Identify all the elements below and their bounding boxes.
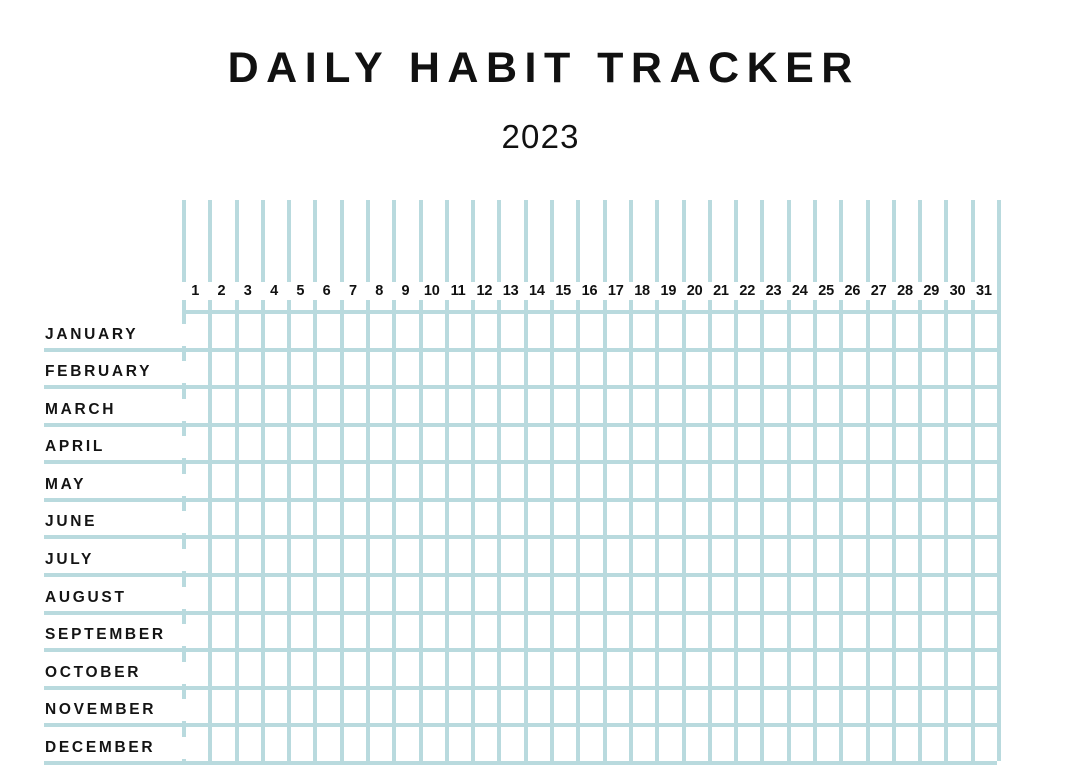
habit-cell[interactable]: [633, 727, 655, 761]
habit-cell[interactable]: [265, 352, 287, 386]
habit-cell[interactable]: [764, 690, 786, 724]
habit-cell[interactable]: [265, 502, 287, 536]
habit-cell[interactable]: [738, 314, 760, 348]
habit-cell[interactable]: [528, 464, 550, 498]
habit-cell[interactable]: [817, 652, 839, 686]
habit-cell[interactable]: [344, 389, 366, 423]
habit-cell[interactable]: [239, 389, 261, 423]
habit-cell[interactable]: [975, 389, 997, 423]
habit-cell[interactable]: [633, 652, 655, 686]
month-label-july[interactable]: JULY: [44, 549, 194, 571]
habit-cell[interactable]: [344, 577, 366, 611]
habit-cell[interactable]: [975, 652, 997, 686]
month-label-january[interactable]: JANUARY: [44, 324, 194, 346]
habit-cell[interactable]: [501, 690, 523, 724]
month-label-june[interactable]: JUNE: [44, 511, 194, 533]
habit-cell[interactable]: [239, 539, 261, 573]
habit-cell[interactable]: [843, 727, 865, 761]
habit-cell[interactable]: [712, 577, 734, 611]
habit-cell[interactable]: [396, 539, 418, 573]
habit-cell[interactable]: [475, 690, 497, 724]
habit-cell[interactable]: [659, 652, 681, 686]
habit-cell[interactable]: [843, 352, 865, 386]
habit-cell[interactable]: [870, 615, 892, 649]
habit-cell[interactable]: [712, 652, 734, 686]
habit-cell[interactable]: [212, 539, 234, 573]
habit-cell[interactable]: [239, 727, 261, 761]
habit-cell[interactable]: [896, 427, 918, 461]
habit-cell[interactable]: [607, 652, 629, 686]
habit-cell[interactable]: [738, 464, 760, 498]
habit-cell[interactable]: [528, 652, 550, 686]
habit-cell[interactable]: [554, 314, 576, 348]
habit-cell[interactable]: [712, 352, 734, 386]
day-header-30[interactable]: 30: [944, 282, 970, 300]
month-label-december[interactable]: DECEMBER: [44, 737, 194, 759]
habit-cell[interactable]: [686, 427, 708, 461]
habit-cell[interactable]: [738, 502, 760, 536]
habit-cell[interactable]: [291, 464, 313, 498]
habit-cell[interactable]: [686, 727, 708, 761]
habit-cell[interactable]: [607, 314, 629, 348]
habit-cell[interactable]: [764, 615, 786, 649]
habit-cell[interactable]: [870, 464, 892, 498]
habit-cell[interactable]: [554, 539, 576, 573]
habit-cell[interactable]: [370, 502, 392, 536]
habit-cell[interactable]: [370, 615, 392, 649]
habit-cell[interactable]: [291, 539, 313, 573]
habit-cell[interactable]: [239, 690, 261, 724]
habit-cell[interactable]: [449, 502, 471, 536]
habit-cell[interactable]: [948, 502, 970, 536]
habit-cell[interactable]: [712, 314, 734, 348]
habit-cell[interactable]: [712, 539, 734, 573]
habit-cell[interactable]: [764, 539, 786, 573]
habit-cell[interactable]: [580, 615, 602, 649]
habit-cell[interactable]: [607, 427, 629, 461]
habit-cell[interactable]: [948, 690, 970, 724]
habit-cell[interactable]: [896, 464, 918, 498]
habit-cell[interactable]: [948, 314, 970, 348]
habit-cell[interactable]: [948, 464, 970, 498]
habit-cell[interactable]: [291, 577, 313, 611]
habit-cell[interactable]: [317, 615, 339, 649]
habit-cell[interactable]: [922, 615, 944, 649]
habit-cell[interactable]: [633, 502, 655, 536]
habit-cell[interactable]: [554, 389, 576, 423]
habit-cell[interactable]: [633, 577, 655, 611]
habit-cell[interactable]: [528, 727, 550, 761]
day-header-15[interactable]: 15: [550, 282, 576, 300]
habit-cell[interactable]: [423, 727, 445, 761]
habit-cell[interactable]: [712, 389, 734, 423]
habit-cell[interactable]: [212, 389, 234, 423]
habit-cell[interactable]: [843, 690, 865, 724]
habit-cell[interactable]: [528, 539, 550, 573]
habit-cell[interactable]: [396, 427, 418, 461]
day-header-9[interactable]: 9: [392, 282, 418, 300]
habit-cell[interactable]: [607, 464, 629, 498]
habit-cell[interactable]: [686, 352, 708, 386]
habit-cell[interactable]: [659, 427, 681, 461]
habit-cell[interactable]: [791, 577, 813, 611]
habit-cell[interactable]: [396, 577, 418, 611]
habit-cell[interactable]: [344, 464, 366, 498]
month-label-february[interactable]: FEBRUARY: [44, 361, 194, 383]
habit-cell[interactable]: [554, 615, 576, 649]
habit-cell[interactable]: [843, 389, 865, 423]
habit-cell[interactable]: [396, 652, 418, 686]
habit-cell[interactable]: [344, 427, 366, 461]
habit-cell[interactable]: [659, 314, 681, 348]
habit-cell[interactable]: [317, 502, 339, 536]
habit-cell[interactable]: [528, 615, 550, 649]
habit-cell[interactable]: [449, 464, 471, 498]
habit-cell[interactable]: [948, 389, 970, 423]
habit-cell[interactable]: [817, 464, 839, 498]
day-header-12[interactable]: 12: [471, 282, 497, 300]
habit-cell[interactable]: [896, 352, 918, 386]
habit-cell[interactable]: [475, 727, 497, 761]
habit-cell[interactable]: [291, 352, 313, 386]
habit-cell[interactable]: [212, 577, 234, 611]
habit-cell[interactable]: [554, 502, 576, 536]
habit-cell[interactable]: [791, 389, 813, 423]
habit-cell[interactable]: [975, 314, 997, 348]
habit-cell[interactable]: [817, 427, 839, 461]
habit-cell[interactable]: [475, 577, 497, 611]
habit-cell[interactable]: [764, 727, 786, 761]
habit-cell[interactable]: [554, 727, 576, 761]
day-header-29[interactable]: 29: [918, 282, 944, 300]
habit-cell[interactable]: [501, 615, 523, 649]
month-label-march[interactable]: MARCH: [44, 399, 194, 421]
habit-cell[interactable]: [870, 539, 892, 573]
habit-cell[interactable]: [265, 389, 287, 423]
habit-cell[interactable]: [291, 690, 313, 724]
habit-cell[interactable]: [501, 389, 523, 423]
habit-cell[interactable]: [948, 539, 970, 573]
habit-cell[interactable]: [870, 427, 892, 461]
habit-cell[interactable]: [423, 389, 445, 423]
habit-cell[interactable]: [791, 727, 813, 761]
habit-cell[interactable]: [843, 652, 865, 686]
habit-cell[interactable]: [922, 652, 944, 686]
habit-cell[interactable]: [817, 539, 839, 573]
habit-cell[interactable]: [975, 615, 997, 649]
habit-cell[interactable]: [843, 427, 865, 461]
habit-cell[interactable]: [686, 652, 708, 686]
habit-cell[interactable]: [291, 389, 313, 423]
day-header-18[interactable]: 18: [629, 282, 655, 300]
habit-cell[interactable]: [239, 464, 261, 498]
habit-cell[interactable]: [396, 464, 418, 498]
habit-cell[interactable]: [291, 615, 313, 649]
habit-cell[interactable]: [922, 539, 944, 573]
habit-cell[interactable]: [317, 652, 339, 686]
habit-cell[interactable]: [922, 352, 944, 386]
habit-cell[interactable]: [554, 464, 576, 498]
habit-cell[interactable]: [948, 652, 970, 686]
habit-cell[interactable]: [396, 502, 418, 536]
habit-cell[interactable]: [580, 539, 602, 573]
day-header-24[interactable]: 24: [787, 282, 813, 300]
day-header-11[interactable]: 11: [445, 282, 471, 300]
habit-cell[interactable]: [528, 427, 550, 461]
month-label-november[interactable]: NOVEMBER: [44, 699, 194, 721]
habit-cell[interactable]: [607, 615, 629, 649]
day-header-14[interactable]: 14: [524, 282, 550, 300]
month-label-september[interactable]: SEPTEMBER: [44, 624, 194, 646]
habit-cell[interactable]: [791, 652, 813, 686]
habit-cell[interactable]: [948, 427, 970, 461]
habit-cell[interactable]: [501, 577, 523, 611]
habit-cell[interactable]: [344, 502, 366, 536]
habit-cell[interactable]: [580, 427, 602, 461]
habit-cell[interactable]: [317, 690, 339, 724]
habit-cell[interactable]: [528, 352, 550, 386]
habit-cell[interactable]: [423, 652, 445, 686]
habit-cell[interactable]: [738, 652, 760, 686]
habit-cell[interactable]: [423, 615, 445, 649]
habit-cell[interactable]: [843, 464, 865, 498]
habit-cell[interactable]: [423, 539, 445, 573]
habit-cell[interactable]: [239, 502, 261, 536]
habit-cell[interactable]: [922, 577, 944, 611]
habit-cell[interactable]: [948, 727, 970, 761]
habit-cell[interactable]: [843, 314, 865, 348]
habit-cell[interactable]: [501, 502, 523, 536]
habit-cell[interactable]: [212, 352, 234, 386]
habit-cell[interactable]: [659, 615, 681, 649]
month-label-august[interactable]: AUGUST: [44, 587, 194, 609]
habit-cell[interactable]: [764, 464, 786, 498]
habit-cell[interactable]: [764, 314, 786, 348]
habit-cell[interactable]: [975, 539, 997, 573]
habit-cell[interactable]: [686, 615, 708, 649]
habit-cell[interactable]: [633, 690, 655, 724]
day-header-17[interactable]: 17: [603, 282, 629, 300]
habit-cell[interactable]: [528, 690, 550, 724]
habit-cell[interactable]: [922, 502, 944, 536]
habit-cell[interactable]: [212, 615, 234, 649]
habit-cell[interactable]: [659, 464, 681, 498]
habit-cell[interactable]: [659, 727, 681, 761]
habit-cell[interactable]: [607, 727, 629, 761]
habit-cell[interactable]: [843, 577, 865, 611]
habit-cell[interactable]: [712, 690, 734, 724]
habit-cell[interactable]: [870, 727, 892, 761]
habit-cell[interactable]: [712, 427, 734, 461]
habit-cell[interactable]: [423, 352, 445, 386]
habit-cell[interactable]: [265, 690, 287, 724]
habit-cell[interactable]: [686, 502, 708, 536]
habit-cell[interactable]: [212, 652, 234, 686]
habit-cell[interactable]: [817, 389, 839, 423]
habit-cell[interactable]: [738, 539, 760, 573]
habit-cell[interactable]: [370, 727, 392, 761]
habit-cell[interactable]: [239, 615, 261, 649]
habit-cell[interactable]: [528, 577, 550, 611]
habit-cell[interactable]: [607, 577, 629, 611]
habit-cell[interactable]: [475, 352, 497, 386]
day-header-2[interactable]: 2: [208, 282, 234, 300]
habit-cell[interactable]: [423, 502, 445, 536]
habit-cell[interactable]: [712, 502, 734, 536]
habit-cell[interactable]: [764, 389, 786, 423]
habit-cell[interactable]: [212, 690, 234, 724]
habit-cell[interactable]: [239, 427, 261, 461]
habit-cell[interactable]: [633, 464, 655, 498]
habit-cell[interactable]: [396, 727, 418, 761]
habit-cell[interactable]: [896, 727, 918, 761]
habit-cell[interactable]: [449, 352, 471, 386]
day-header-31[interactable]: 31: [971, 282, 997, 300]
day-header-8[interactable]: 8: [366, 282, 392, 300]
habit-cell[interactable]: [633, 427, 655, 461]
habit-cell[interactable]: [686, 577, 708, 611]
habit-cell[interactable]: [975, 464, 997, 498]
habit-cell[interactable]: [475, 652, 497, 686]
habit-cell[interactable]: [607, 690, 629, 724]
habit-cell[interactable]: [896, 690, 918, 724]
day-header-16[interactable]: 16: [576, 282, 602, 300]
habit-cell[interactable]: [370, 577, 392, 611]
habit-cell[interactable]: [449, 389, 471, 423]
habit-cell[interactable]: [344, 314, 366, 348]
habit-cell[interactable]: [764, 502, 786, 536]
month-label-april[interactable]: APRIL: [44, 436, 194, 458]
habit-cell[interactable]: [370, 427, 392, 461]
habit-cell[interactable]: [738, 427, 760, 461]
habit-cell[interactable]: [475, 615, 497, 649]
habit-cell[interactable]: [239, 652, 261, 686]
habit-cell[interactable]: [317, 464, 339, 498]
habit-cell[interactable]: [501, 539, 523, 573]
habit-cell[interactable]: [265, 539, 287, 573]
habit-cell[interactable]: [975, 727, 997, 761]
habit-cell[interactable]: [633, 389, 655, 423]
habit-cell[interactable]: [817, 352, 839, 386]
habit-cell[interactable]: [922, 727, 944, 761]
day-header-22[interactable]: 22: [734, 282, 760, 300]
habit-cell[interactable]: [686, 314, 708, 348]
habit-cell[interactable]: [449, 314, 471, 348]
habit-cell[interactable]: [764, 577, 786, 611]
habit-cell[interactable]: [922, 389, 944, 423]
habit-cell[interactable]: [449, 427, 471, 461]
habit-cell[interactable]: [817, 727, 839, 761]
habit-cell[interactable]: [554, 690, 576, 724]
habit-cell[interactable]: [607, 352, 629, 386]
habit-cell[interactable]: [449, 615, 471, 649]
habit-cell[interactable]: [817, 615, 839, 649]
habit-cell[interactable]: [633, 539, 655, 573]
habit-cell[interactable]: [396, 389, 418, 423]
habit-cell[interactable]: [554, 352, 576, 386]
habit-cell[interactable]: [475, 389, 497, 423]
day-header-26[interactable]: 26: [839, 282, 865, 300]
habit-cell[interactable]: [265, 427, 287, 461]
habit-cell[interactable]: [370, 464, 392, 498]
habit-cell[interactable]: [554, 652, 576, 686]
habit-cell[interactable]: [396, 314, 418, 348]
habit-cell[interactable]: [870, 502, 892, 536]
habit-cell[interactable]: [291, 652, 313, 686]
habit-cell[interactable]: [843, 615, 865, 649]
habit-cell[interactable]: [817, 690, 839, 724]
habit-cell[interactable]: [265, 615, 287, 649]
habit-cell[interactable]: [501, 727, 523, 761]
habit-cell[interactable]: [423, 464, 445, 498]
habit-cell[interactable]: [501, 352, 523, 386]
habit-cell[interactable]: [317, 314, 339, 348]
habit-cell[interactable]: [423, 690, 445, 724]
habit-cell[interactable]: [370, 652, 392, 686]
habit-cell[interactable]: [870, 652, 892, 686]
habit-cell[interactable]: [580, 502, 602, 536]
habit-cell[interactable]: [317, 389, 339, 423]
habit-cell[interactable]: [265, 727, 287, 761]
habit-cell[interactable]: [712, 464, 734, 498]
habit-cell[interactable]: [975, 577, 997, 611]
habit-cell[interactable]: [501, 427, 523, 461]
habit-cell[interactable]: [370, 539, 392, 573]
day-header-5[interactable]: 5: [287, 282, 313, 300]
habit-cell[interactable]: [423, 427, 445, 461]
habit-cell[interactable]: [212, 314, 234, 348]
day-header-1[interactable]: 1: [182, 282, 208, 300]
habit-cell[interactable]: [633, 352, 655, 386]
habit-cell[interactable]: [870, 352, 892, 386]
habit-cell[interactable]: [948, 577, 970, 611]
habit-cell[interactable]: [449, 652, 471, 686]
habit-cell[interactable]: [922, 314, 944, 348]
day-header-25[interactable]: 25: [813, 282, 839, 300]
habit-cell[interactable]: [686, 539, 708, 573]
habit-cell[interactable]: [791, 352, 813, 386]
day-header-23[interactable]: 23: [760, 282, 786, 300]
habit-cell[interactable]: [738, 615, 760, 649]
habit-cell[interactable]: [922, 464, 944, 498]
habit-cell[interactable]: [344, 727, 366, 761]
habit-cell[interactable]: [607, 389, 629, 423]
habit-cell[interactable]: [975, 352, 997, 386]
habit-cell[interactable]: [291, 502, 313, 536]
day-header-13[interactable]: 13: [497, 282, 523, 300]
habit-cell[interactable]: [291, 314, 313, 348]
habit-cell[interactable]: [580, 652, 602, 686]
day-header-28[interactable]: 28: [892, 282, 918, 300]
day-header-6[interactable]: 6: [313, 282, 339, 300]
habit-cell[interactable]: [475, 502, 497, 536]
habit-cell[interactable]: [554, 427, 576, 461]
habit-cell[interactable]: [659, 577, 681, 611]
habit-cell[interactable]: [528, 314, 550, 348]
habit-cell[interactable]: [896, 577, 918, 611]
habit-cell[interactable]: [475, 427, 497, 461]
habit-cell[interactable]: [659, 690, 681, 724]
month-label-october[interactable]: OCTOBER: [44, 662, 194, 684]
habit-cell[interactable]: [712, 727, 734, 761]
habit-cell[interactable]: [791, 539, 813, 573]
habit-cell[interactable]: [686, 690, 708, 724]
habit-cell[interactable]: [633, 314, 655, 348]
habit-cell[interactable]: [870, 577, 892, 611]
habit-cell[interactable]: [344, 690, 366, 724]
habit-cell[interactable]: [396, 690, 418, 724]
habit-cell[interactable]: [633, 615, 655, 649]
